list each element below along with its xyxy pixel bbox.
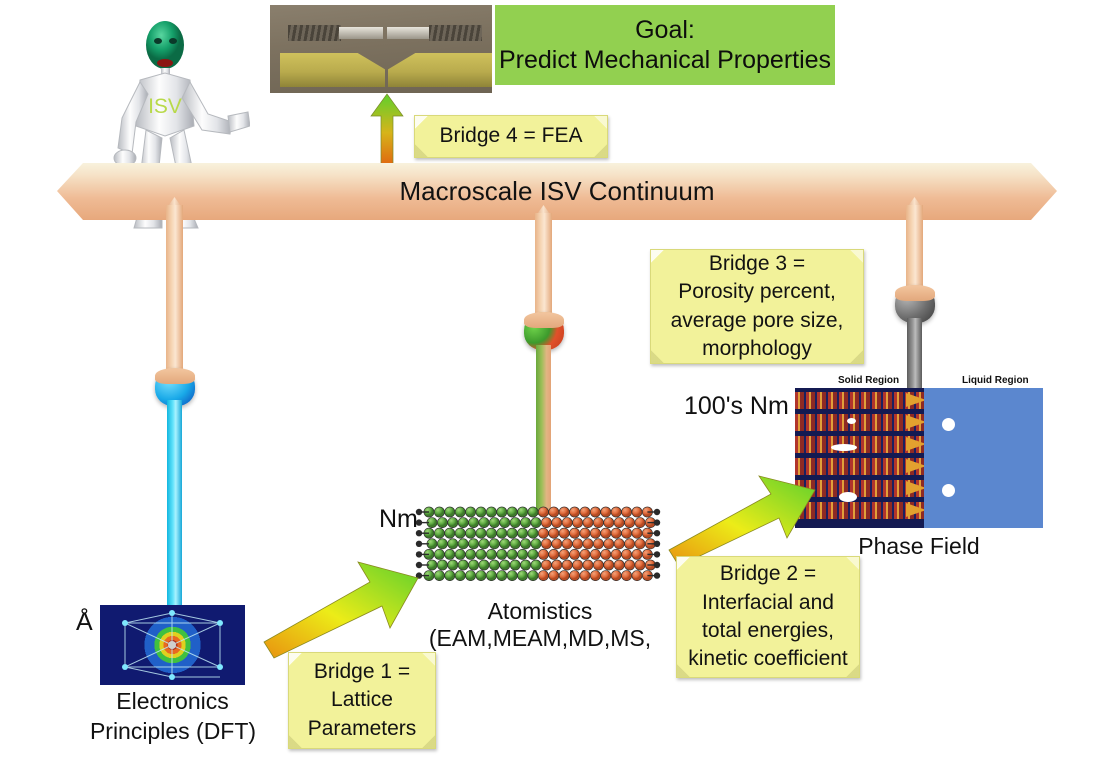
scale-label-hundreds-nm: 100's Nm — [684, 392, 789, 421]
left-pillar-lower — [167, 400, 182, 615]
atomistics-caption-line2: (EAM,MEAM,MD,MS, — [390, 625, 690, 652]
atomistic-lattice-image — [415, 505, 665, 583]
bridge-1-arrow — [258, 558, 426, 662]
scale-label-angstrom: Å — [76, 608, 93, 637]
bridge-3-box: Bridge 3 = Porosity percent, average por… — [650, 249, 864, 364]
right-pillar-lower — [907, 318, 922, 393]
bridge-2-arrow — [663, 472, 823, 568]
phase-field-solid-label: Solid Region — [838, 375, 899, 386]
phase-field-liquid-label: Liquid Region — [962, 375, 1029, 386]
phase-field-liquid-region — [924, 388, 1043, 528]
right-pillar-upper — [906, 205, 923, 297]
bridge-2-box: Bridge 2 = Interfacial and total energie… — [676, 556, 860, 678]
dft-charge-density-image — [100, 605, 245, 685]
left-pillar-upper — [166, 205, 183, 380]
bridge-2-label: Bridge 2 = Interfacial and total energie… — [688, 560, 848, 673]
middle-pillar-lower — [536, 345, 551, 515]
phase-field-image — [795, 388, 1043, 528]
goal-banner: Goal: Predict Mechanical Properties — [495, 5, 835, 85]
broken-rod-left — [288, 25, 383, 41]
scale-label-nm: Nm — [379, 505, 418, 534]
electronics-caption-line2: Principles (DFT) — [68, 718, 278, 745]
isv-chest-label: ISV — [148, 95, 182, 118]
atomistics-caption-line1: Atomistics — [415, 598, 665, 625]
broken-flat-specimen-right — [388, 53, 492, 87]
goal-line-2: Predict Mechanical Properties — [499, 45, 831, 76]
tensile-specimen-photo — [270, 5, 492, 93]
electronics-caption-line1: Electronics — [90, 688, 255, 715]
broken-flat-specimen-left — [280, 53, 385, 87]
goal-line-1: Goal: — [635, 15, 695, 46]
broken-rod-right — [387, 25, 482, 41]
bridge-3-label: Bridge 3 = Porosity percent, average por… — [671, 250, 844, 363]
bridge-4-box: Bridge 4 = FEA — [414, 115, 608, 158]
middle-pillar-upper — [535, 213, 552, 320]
bridge-1-box: Bridge 1 = Lattice Parameters — [288, 652, 436, 749]
bridge-4-arrow — [368, 92, 406, 164]
bridge-1-label: Bridge 1 = Lattice Parameters — [308, 658, 417, 743]
macroscale-label: Macroscale ISV Continuum — [399, 176, 714, 207]
bridge-4-label: Bridge 4 = FEA — [440, 122, 583, 150]
